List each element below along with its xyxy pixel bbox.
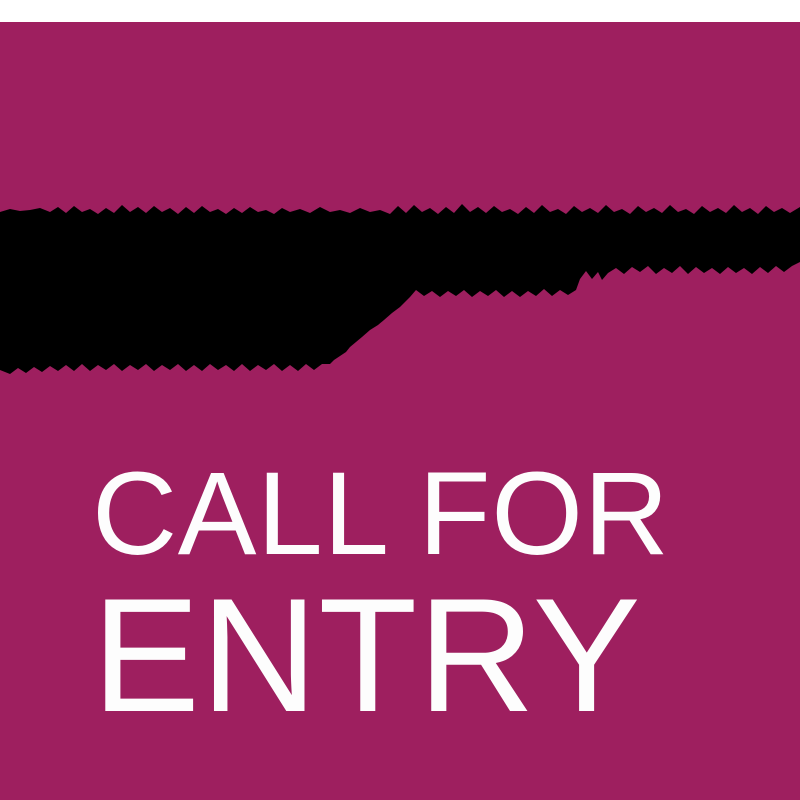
headline-line-call-for: CALL FOR (92, 455, 669, 573)
top-white-band (0, 0, 800, 22)
headline-line-entry: ENTRY (92, 575, 641, 737)
poster-canvas: CALL FOR ENTRY (0, 0, 800, 800)
